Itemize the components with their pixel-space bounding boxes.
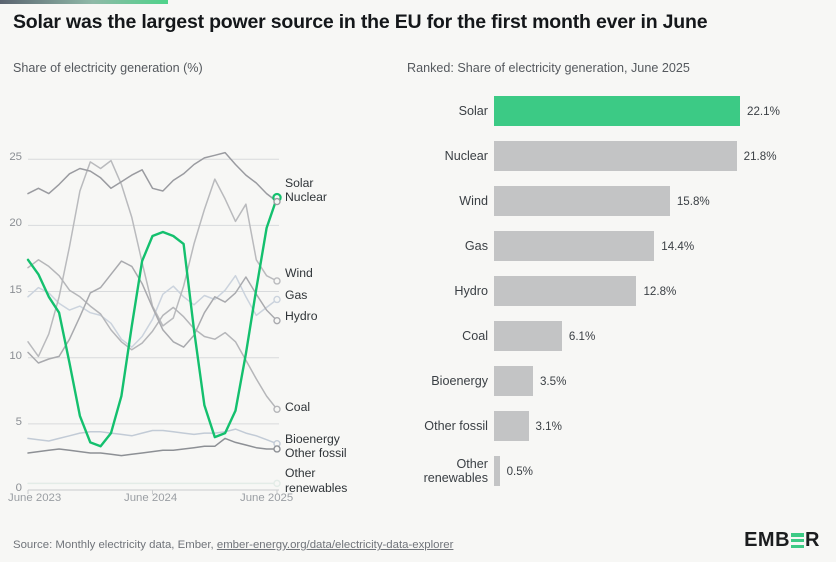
bar-hydro[interactable] (494, 276, 636, 306)
source-note: Source: Monthly electricity data, Ember,… (13, 539, 453, 551)
page-title: Solar was the largest power source in th… (13, 11, 707, 34)
bar-track (494, 315, 740, 357)
line-chart-x-tick: June 2024 (124, 492, 177, 504)
line-chart: 0510152025 June 2023June 2024June 2025 S… (0, 88, 400, 508)
logo-text-left: EMB (744, 529, 790, 552)
bar-coal[interactable] (494, 321, 562, 351)
source-prefix: Source: Monthly electricity data, Ember, (13, 539, 217, 551)
bar-row[interactable]: Solar22.1% (400, 90, 836, 132)
ember-logo: EMB R (744, 529, 820, 552)
bar-value-bioenergy: 3.5% (540, 360, 566, 402)
line-label-hydro: Hydro (285, 309, 318, 324)
bar-row[interactable]: Gas14.4% (400, 225, 836, 267)
bar-label-wind: Wind (400, 180, 488, 222)
line-label-nuclear: Nuclear (285, 190, 327, 205)
bar-chart-subtitle: Ranked: Share of electricity generation,… (407, 61, 690, 75)
bar-track (494, 225, 740, 267)
bar-row[interactable]: Otherrenewables0.5% (400, 450, 836, 492)
bar-label-solar: Solar (400, 90, 488, 132)
bar-other-fossil[interactable] (494, 411, 529, 441)
bar-value-wind: 15.8% (677, 180, 710, 222)
bar-track (494, 405, 740, 447)
bar-label-bioenergy: Bioenergy (400, 360, 488, 402)
bar-label-other-renewables: Otherrenewables (400, 450, 488, 492)
logo-text-right: R (805, 529, 820, 552)
bar-value-nuclear: 21.8% (744, 135, 777, 177)
bar-gas[interactable] (494, 231, 654, 261)
bar-row[interactable]: Wind15.8% (400, 180, 836, 222)
bar-value-solar: 22.1% (747, 90, 780, 132)
line-label-solar: Solar (285, 176, 313, 191)
bar-label-other-fossil: Other fossil (400, 405, 488, 447)
bar-track (494, 90, 740, 132)
bar-label-nuclear: Nuclear (400, 135, 488, 177)
line-label-wind: Wind (285, 266, 313, 281)
bar-label-hydro: Hydro (400, 270, 488, 312)
line-label-bioenergy: Bioenergy (285, 432, 340, 447)
bar-row[interactable]: Coal6.1% (400, 315, 836, 357)
line-chart-svg (0, 88, 400, 508)
bar-label-coal: Coal (400, 315, 488, 357)
source-link[interactable]: ember-energy.org/data/electricity-data-e… (217, 539, 454, 551)
line-chart-y-tick: 25 (0, 151, 22, 163)
bar-other-renewables[interactable] (494, 456, 500, 486)
line-label-other-fossil: Other fossil (285, 446, 347, 461)
line-chart-y-tick: 15 (0, 284, 22, 296)
line-chart-y-tick: 20 (0, 217, 22, 229)
bar-value-other-fossil: 3.1% (536, 405, 562, 447)
bar-value-gas: 14.4% (661, 225, 694, 267)
bar-bioenergy[interactable] (494, 366, 533, 396)
line-chart-y-tick: 5 (0, 416, 22, 428)
bar-value-hydro: 12.8% (643, 270, 676, 312)
bar-wind[interactable] (494, 186, 670, 216)
bar-row[interactable]: Bioenergy3.5% (400, 360, 836, 402)
line-label-coal: Coal (285, 400, 310, 415)
bar-track (494, 135, 740, 177)
top-accent-bar (0, 0, 168, 4)
bar-row[interactable]: Other fossil3.1% (400, 405, 836, 447)
logo-e-icon (791, 533, 804, 548)
bar-value-coal: 6.1% (569, 315, 595, 357)
bar-row[interactable]: Nuclear21.8% (400, 135, 836, 177)
line-label-gas: Gas (285, 288, 307, 303)
bar-track (494, 360, 740, 402)
line-label-other-renewables: Otherrenewables (285, 466, 347, 495)
line-chart-x-tick: June 2023 (8, 492, 61, 504)
infographic-root: Solar was the largest power source in th… (0, 0, 836, 562)
line-chart-y-tick: 10 (0, 350, 22, 362)
bar-value-other-renewables: 0.5% (507, 450, 533, 492)
line-chart-subtitle: Share of electricity generation (%) (13, 61, 203, 75)
bar-nuclear[interactable] (494, 141, 737, 171)
bar-track (494, 270, 740, 312)
bar-chart: Solar22.1%Nuclear21.8%Wind15.8%Gas14.4%H… (400, 90, 836, 505)
bar-row[interactable]: Hydro12.8% (400, 270, 836, 312)
bar-solar[interactable] (494, 96, 740, 126)
bar-label-gas: Gas (400, 225, 488, 267)
